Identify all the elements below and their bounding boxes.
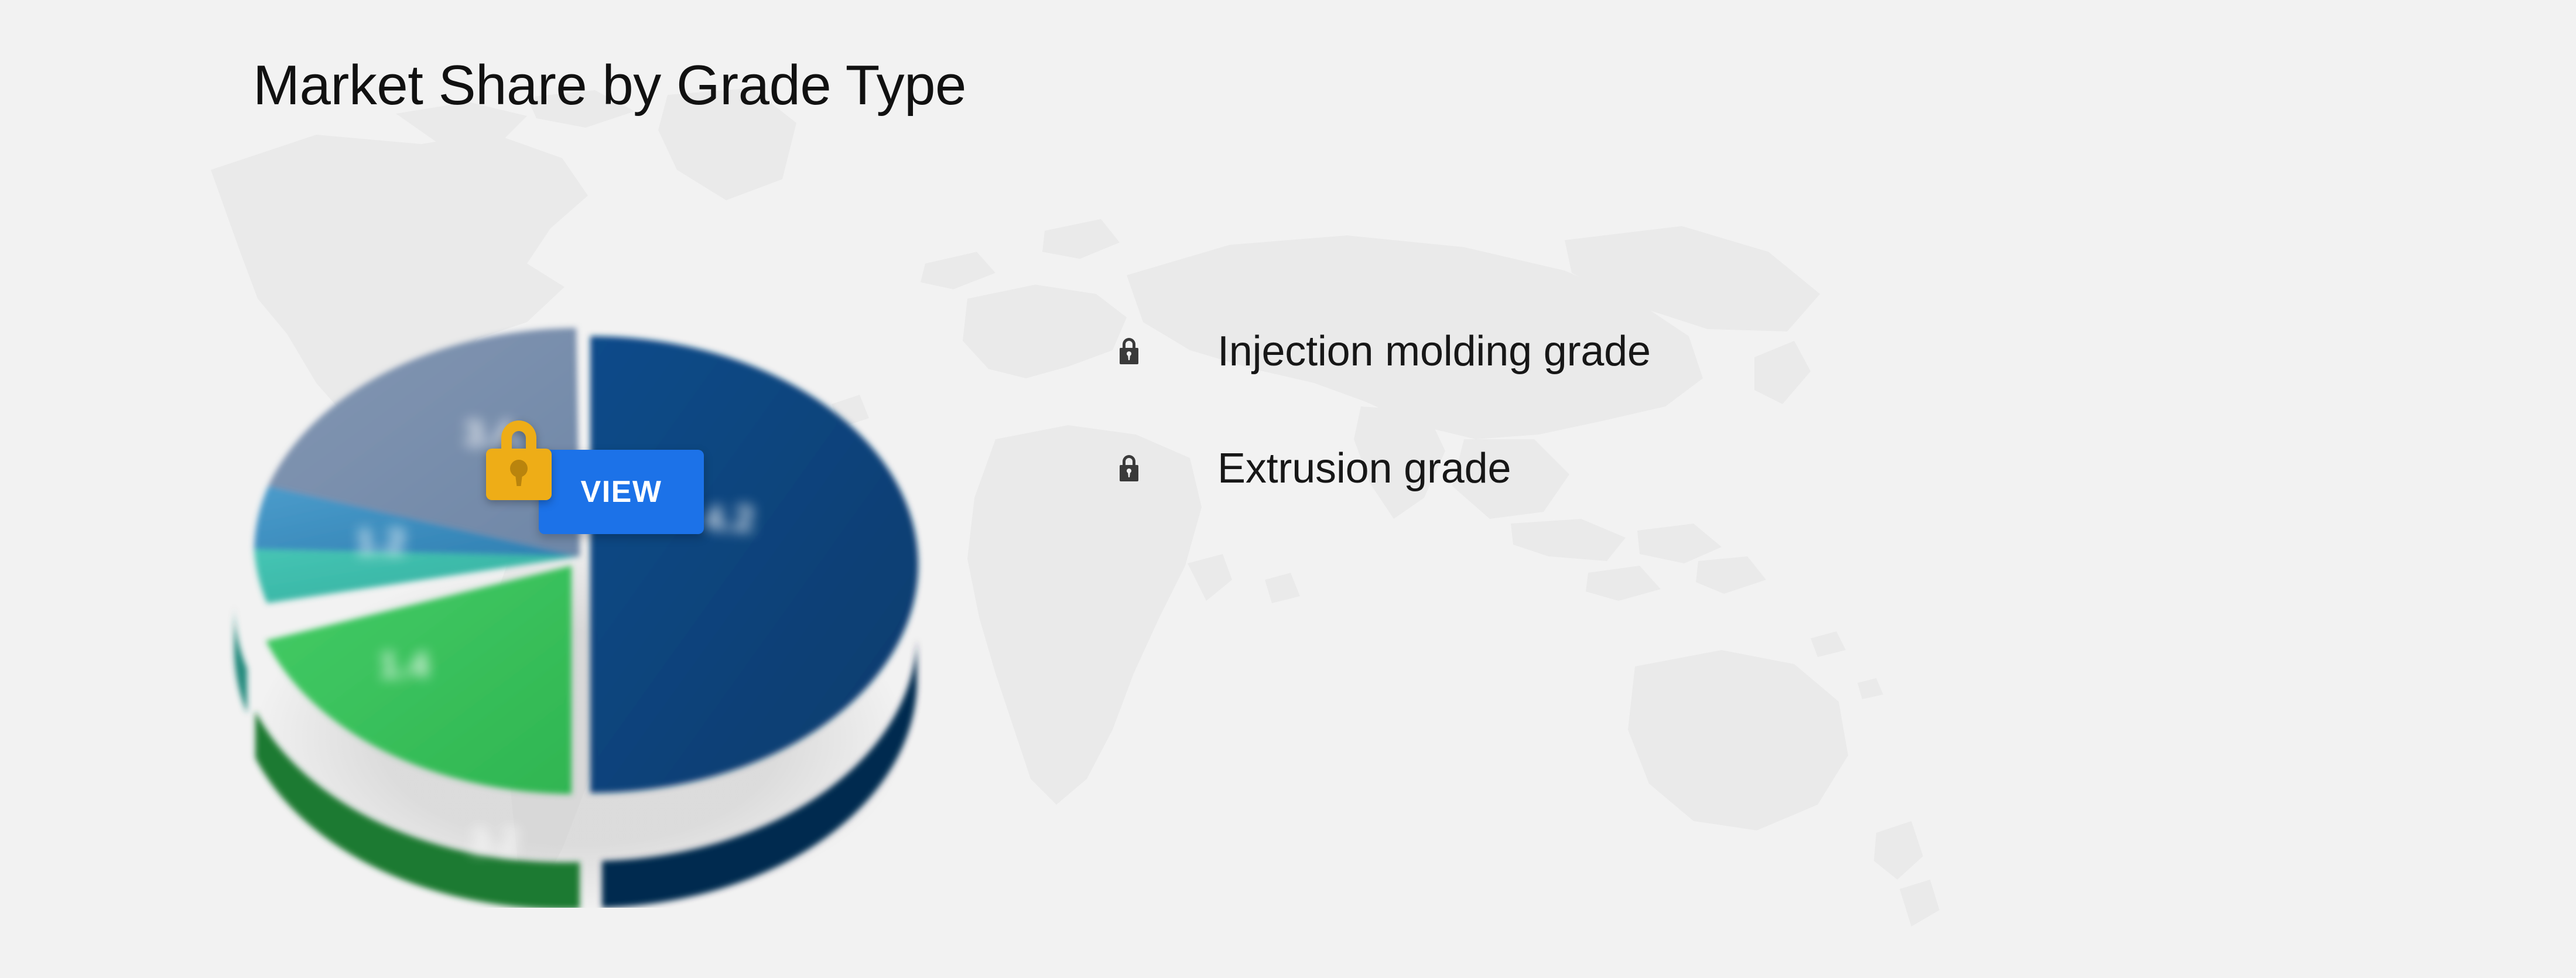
- pie-slice-side-teal: [234, 603, 247, 713]
- lock-icon: [1116, 336, 1142, 367]
- legend-item-injection-molding[interactable]: Injection molding grade: [1116, 293, 2052, 410]
- legend-item-label: Extrusion grade: [1217, 444, 1511, 493]
- padlock-icon: [475, 410, 562, 502]
- pie-label-3: 1.2: [355, 522, 406, 562]
- lock-icon: [1116, 453, 1142, 484]
- page-title: Market Share by Grade Type: [253, 57, 966, 114]
- view-button-label: VIEW: [581, 474, 662, 509]
- legend: Injection molding grade Extrusion grade: [1116, 293, 2052, 527]
- locked-content-overlay: VIEW: [475, 410, 721, 562]
- legend-item-extrusion[interactable]: Extrusion grade: [1116, 410, 2052, 527]
- pie-label-2: 1.4: [379, 645, 430, 685]
- view-button[interactable]: VIEW: [539, 450, 704, 534]
- legend-item-label: Injection molding grade: [1217, 327, 1651, 375]
- pie-label-1: 3.2: [470, 820, 520, 861]
